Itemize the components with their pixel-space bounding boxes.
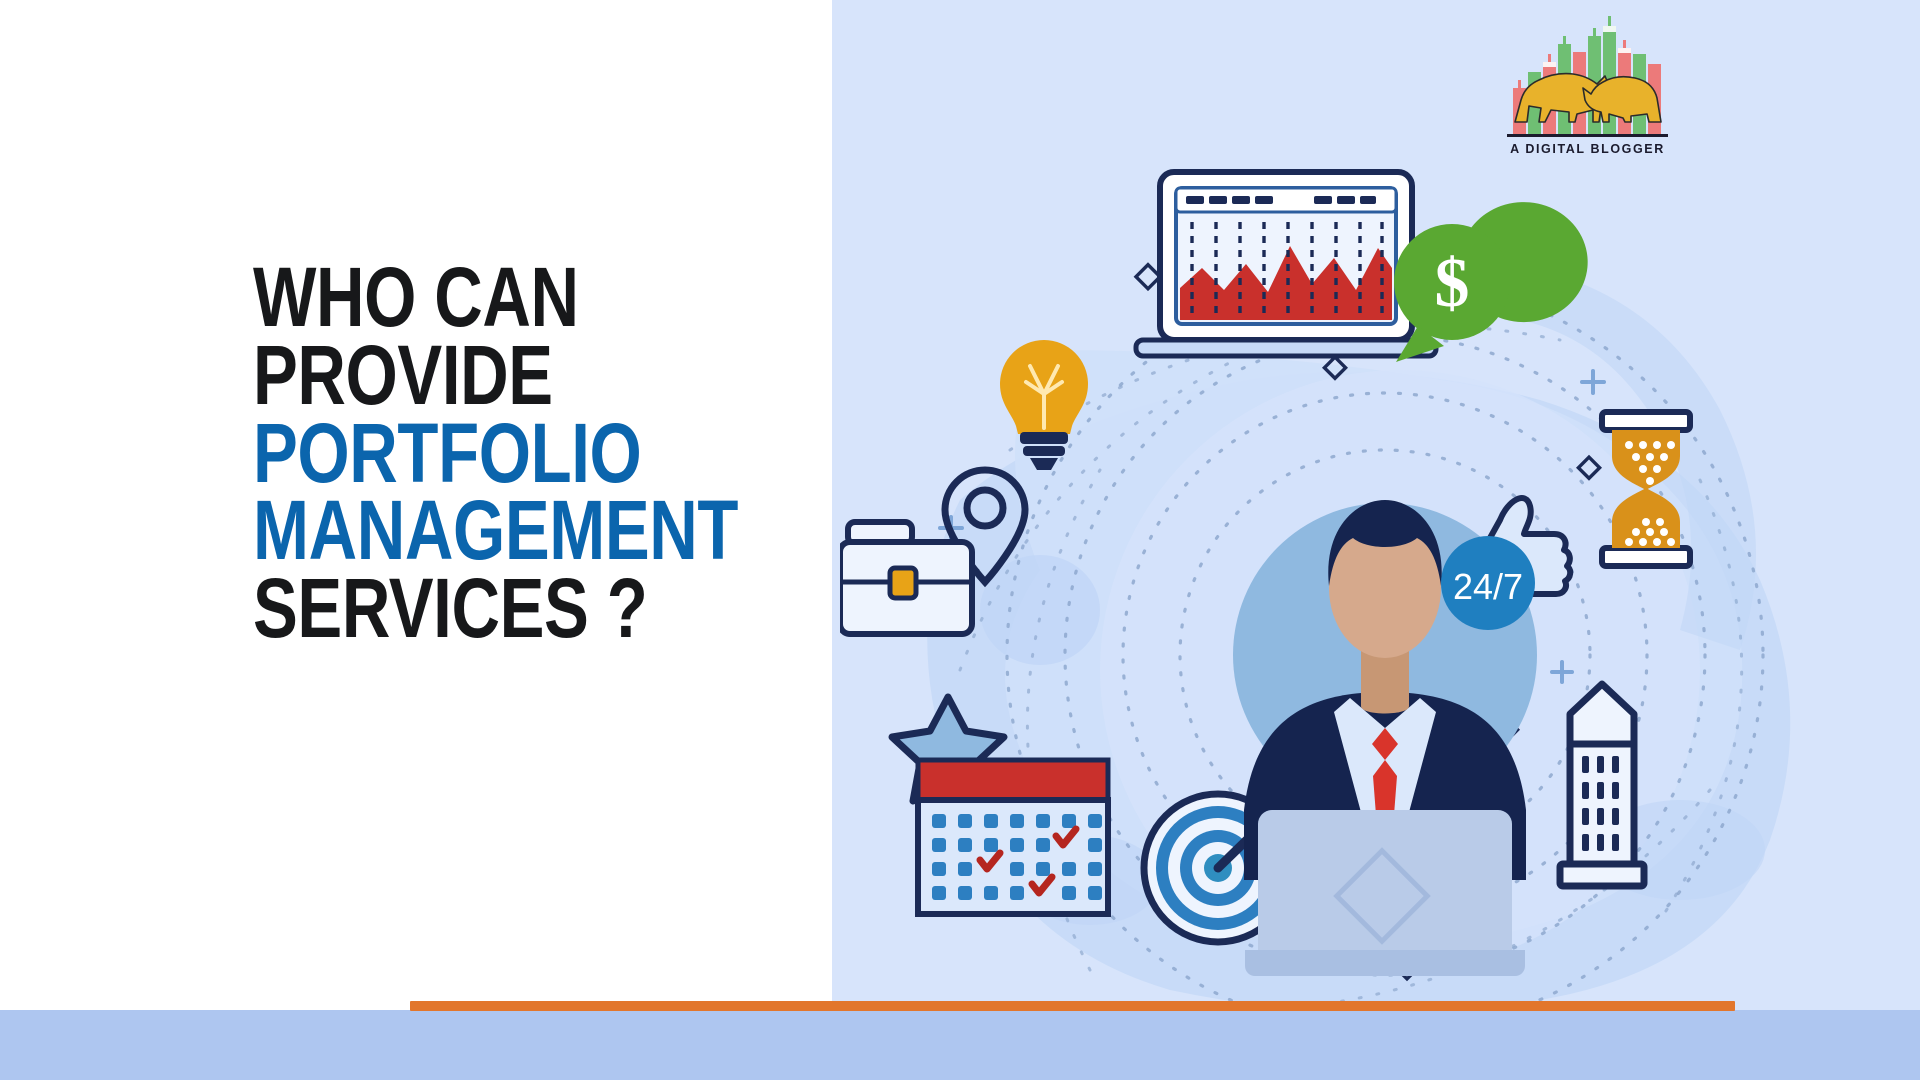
headline-line-1: WHO CAN: [253, 260, 701, 335]
laptop-chart-icon: [1136, 172, 1436, 356]
headline-line-3: PORTFOLIO: [253, 416, 701, 491]
headline-line-2: PROVIDE: [253, 338, 701, 413]
brand-name: A DIGITAL BLOGGER: [1505, 142, 1670, 156]
badge-247-label: 24/7: [1453, 566, 1523, 607]
hero-illustration: $: [840, 150, 1910, 1020]
accent-divider-rule: [410, 1001, 1735, 1011]
footer-strip: [0, 1010, 1920, 1080]
calendar-icon: [918, 760, 1108, 914]
headline-line-5: SERVICES ?: [253, 571, 701, 646]
headline-line-4: MANAGEMENT: [253, 493, 701, 568]
page-title: WHO CAN PROVIDE PORTFOLIO MANAGEMENT SER…: [253, 260, 813, 649]
banner-stage: WHO CAN PROVIDE PORTFOLIO MANAGEMENT SER…: [0, 0, 1920, 1080]
bull-and-bear-candlestick-icon: [1505, 14, 1670, 142]
brand-logo[interactable]: A DIGITAL BLOGGER: [1505, 14, 1670, 164]
businessman-figure: 24/7: [1233, 500, 1537, 976]
dollar-bubble-icon: $: [1394, 202, 1588, 362]
svg-text:$: $: [1435, 245, 1470, 322]
building-icon: [1560, 684, 1644, 886]
